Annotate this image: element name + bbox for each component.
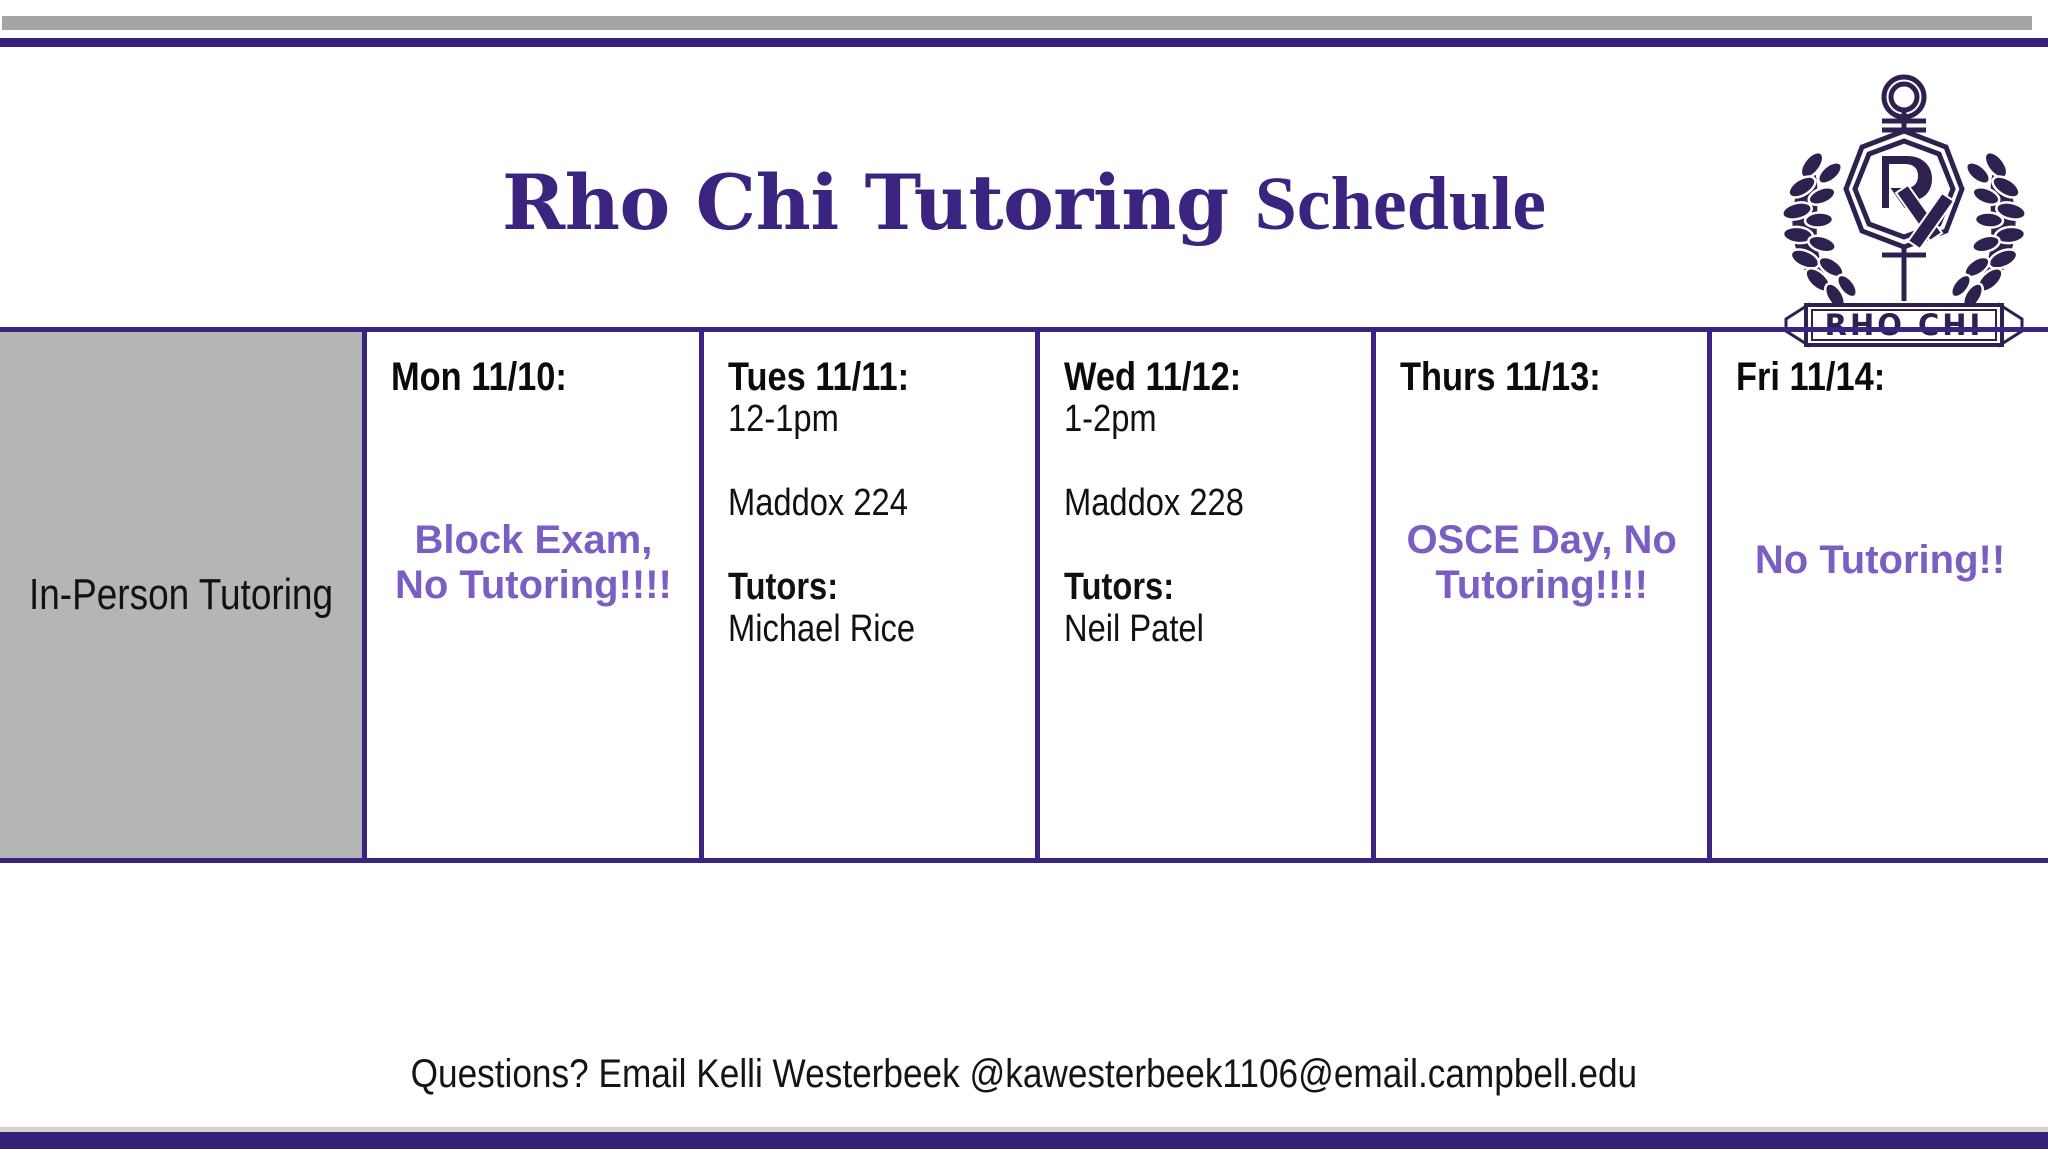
day-heading: Wed 11/12: [1064, 356, 1312, 399]
page-title-sub: Schedule [1255, 162, 1546, 246]
slide-canvas: Rho Chi Tutoring Schedule [0, 30, 2048, 1163]
schedule-table: In-Person Tutoring Mon 11/10: Block Exam… [0, 327, 2048, 863]
row-label-cell: In-Person Tutoring [0, 332, 367, 858]
day-heading: Mon 11/10: [391, 356, 640, 399]
day-notice: OSCE Day, No Tutoring!!!! [1376, 518, 1707, 608]
day-time: 1-2pm [1064, 399, 1312, 441]
tutors-names: Michael Rice [728, 609, 976, 651]
horizontal-scrollbar-thumb[interactable] [2, 16, 2032, 31]
day-column-thursday: Thurs 11/13: OSCE Day, No Tutoring!!!! [1376, 332, 1712, 858]
day-column-wednesday: Wed 11/12: 1-2pm Maddox 228 Tutors: Neil… [1040, 332, 1376, 858]
day-time: 12-1pm [728, 399, 976, 441]
day-room: Maddox 224 [728, 483, 976, 525]
day-column-friday: Fri 11/14: No Tutoring!! [1712, 332, 2048, 858]
top-accent-rule [0, 38, 2048, 47]
tutors-names: Neil Patel [1064, 609, 1312, 651]
day-heading: Fri 11/14: [1736, 356, 1989, 399]
day-heading: Tues 11/11: [728, 356, 976, 399]
tutors-label: Tutors: [1064, 567, 1312, 609]
day-column-tuesday: Tues 11/11: 12-1pm Maddox 224 Tutors: Mi… [704, 332, 1040, 858]
day-heading: Thurs 11/13: [1400, 356, 1648, 399]
slide-header: Rho Chi Tutoring Schedule [0, 47, 2048, 337]
tutors-label: Tutors: [728, 567, 976, 609]
horizontal-scrollbar-track[interactable] [0, 8, 2037, 23]
rho-chi-logo: RHO CHI [1778, 69, 2030, 351]
day-notice: Block Exam, No Tutoring!!!! [367, 518, 699, 608]
contact-text: Questions? Email Kelli Westerbeek @kawes… [411, 1052, 1638, 1097]
day-notice: No Tutoring!! [1712, 538, 2048, 583]
contact-footer: Questions? Email Kelli Westerbeek @kawes… [0, 1052, 2048, 1097]
day-column-monday: Mon 11/10: Block Exam, No Tutoring!!!! [367, 332, 704, 858]
row-label-text: In-Person Tutoring [29, 570, 333, 620]
window-chrome [0, 0, 2048, 30]
page-title-main: Rho Chi Tutoring [502, 158, 1255, 247]
bottom-accent-rule [0, 1132, 2048, 1149]
day-room: Maddox 228 [1064, 483, 1312, 525]
page-title: Rho Chi Tutoring Schedule [0, 165, 2048, 242]
